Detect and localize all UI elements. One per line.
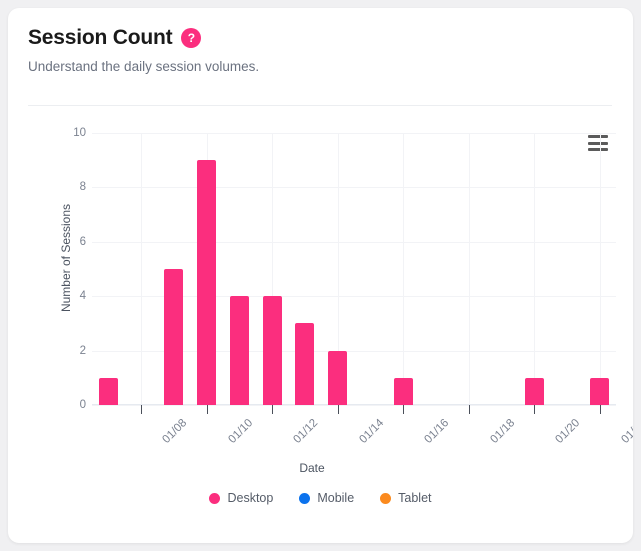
chart-bar[interactable] <box>394 378 413 405</box>
legend-swatch-icon <box>209 493 220 504</box>
x-axis-title: Date <box>8 461 616 475</box>
x-axis-tick-mark <box>403 405 404 414</box>
help-icon[interactable]: ? <box>181 28 201 48</box>
y-axis-tick-label: 0 <box>46 399 86 411</box>
y-axis-tick-label: 4 <box>46 290 86 302</box>
legend-item[interactable]: Mobile <box>299 491 354 505</box>
card-header: Session Count ? Understand the daily ses… <box>28 26 613 74</box>
y-axis-tick-label: 2 <box>46 345 86 357</box>
gridline-horizontal <box>92 242 616 243</box>
legend-label: Mobile <box>317 491 354 505</box>
x-axis-tick-mark <box>469 405 470 414</box>
chart-legend: DesktopMobileTablet <box>8 491 633 505</box>
x-axis-tick-label: 01/22 <box>619 417 633 446</box>
gridline-horizontal <box>92 187 616 188</box>
x-axis-tick-mark <box>207 405 208 414</box>
y-axis-title: Number of Sessions <box>59 178 73 338</box>
title-row: Session Count ? <box>28 26 613 49</box>
legend-swatch-icon <box>299 493 310 504</box>
session-count-card: Session Count ? Understand the daily ses… <box>8 8 633 543</box>
chart-bar[interactable] <box>295 323 314 405</box>
x-axis-tick-mark <box>600 405 601 414</box>
gridline-vertical <box>141 133 142 405</box>
gridline-vertical <box>469 133 470 405</box>
gridline-vertical <box>403 133 404 405</box>
chart-bar[interactable] <box>230 296 249 405</box>
chart-bar[interactable] <box>525 378 544 405</box>
x-axis-tick-mark <box>338 405 339 414</box>
chart-bar[interactable] <box>197 160 216 405</box>
header-divider <box>28 105 612 106</box>
x-axis-tick-mark <box>272 405 273 414</box>
x-axis-tick-label: 01/14 <box>357 417 386 446</box>
gridline-horizontal <box>92 133 616 134</box>
x-axis-tick-label: 01/10 <box>226 417 255 446</box>
x-axis-tick-mark <box>141 405 142 414</box>
card-subtitle: Understand the daily session volumes. <box>28 59 613 74</box>
y-axis-tick-label: 6 <box>46 236 86 248</box>
plot-region <box>92 133 616 405</box>
legend-swatch-icon <box>380 493 391 504</box>
x-axis-tick-label: 01/20 <box>554 417 583 446</box>
x-axis-tick-label: 01/08 <box>161 417 190 446</box>
x-axis-tick-mark <box>534 405 535 414</box>
page-title: Session Count <box>28 26 172 49</box>
y-axis-tick-label: 8 <box>46 181 86 193</box>
y-axis-tick-label: 10 <box>46 127 86 139</box>
legend-item[interactable]: Desktop <box>209 491 273 505</box>
x-axis-ticks: 01/0801/1001/1201/1401/1601/1801/2001/22 <box>92 405 616 465</box>
chart-area: Number of Sessions 0246810 01/0801/1001/… <box>8 113 633 543</box>
chart-bar[interactable] <box>590 378 609 405</box>
legend-label: Tablet <box>398 491 431 505</box>
chart-bar[interactable] <box>99 378 118 405</box>
chart-bar[interactable] <box>164 269 183 405</box>
chart-bar[interactable] <box>263 296 282 405</box>
legend-item[interactable]: Tablet <box>380 491 431 505</box>
x-axis-tick-label: 01/12 <box>292 417 321 446</box>
x-axis-tick-label: 01/18 <box>488 417 517 446</box>
gridline-vertical <box>534 133 535 405</box>
gridline-vertical <box>600 133 601 405</box>
chart-bar[interactable] <box>328 351 347 405</box>
y-axis-ticks: Number of Sessions 0246810 <box>42 133 86 405</box>
x-axis-tick-label: 01/16 <box>423 417 452 446</box>
legend-label: Desktop <box>227 491 273 505</box>
